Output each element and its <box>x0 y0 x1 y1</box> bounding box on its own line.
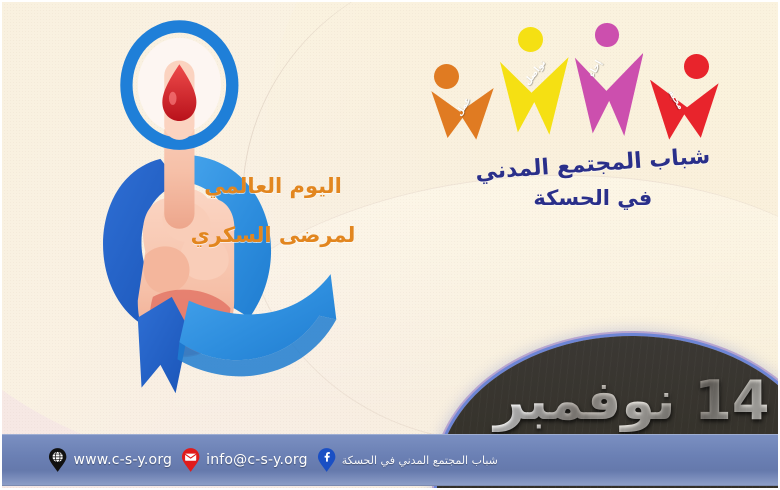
poster-canvas: اليوم العالمي لمرضى السكري عمل تواصل إخا… <box>0 0 780 490</box>
left-title-line1: اليوم العالمي <box>204 174 342 198</box>
footer-social-text: شباب المجتمع المدني في الحسكة <box>342 454 498 467</box>
left-title-line2: لمرضى السكري <box>156 225 390 246</box>
right-title: شباب المجتمع المدني في الحسكة <box>429 152 757 210</box>
person-orange-head <box>434 64 459 89</box>
date-text: 14 نوفمبر <box>437 369 780 432</box>
footer-social[interactable]: شباب المجتمع المدني في الحسكة <box>317 448 498 472</box>
person-magenta: إخاء <box>575 23 644 136</box>
person-red: محبة <box>650 54 719 140</box>
hand-thumb <box>143 246 189 293</box>
person-magenta-head <box>595 23 618 46</box>
left-title: اليوم العالمي لمرضى السكري <box>156 176 390 246</box>
person-magenta-label: إخاء <box>587 59 604 79</box>
person-red-head <box>684 54 709 79</box>
footer-website-text: www.c-s-y.org <box>73 452 172 468</box>
person-magenta-body <box>575 53 644 136</box>
footer-email[interactable]: info@c-s-y.org <box>181 448 308 472</box>
right-title-line2: في الحسكة <box>429 186 757 210</box>
globe-icon <box>48 448 67 472</box>
person-orange: عمل <box>431 64 493 140</box>
facebook-icon <box>317 448 336 472</box>
footer-email-text: info@c-s-y.org <box>206 452 308 468</box>
footer-bar: www.c-s-y.org info@c-s-y.org شباب المجتم… <box>0 434 780 486</box>
person-yellow-head <box>518 27 543 52</box>
person-red-body <box>650 80 719 140</box>
blood-drop-highlight <box>169 91 177 104</box>
person-yellow: تواصل <box>500 27 569 135</box>
people-logo: عمل تواصل إخاء محبة <box>425 22 737 145</box>
envelope-pin-icon <box>181 448 200 472</box>
footer-website[interactable]: www.c-s-y.org <box>48 448 172 472</box>
